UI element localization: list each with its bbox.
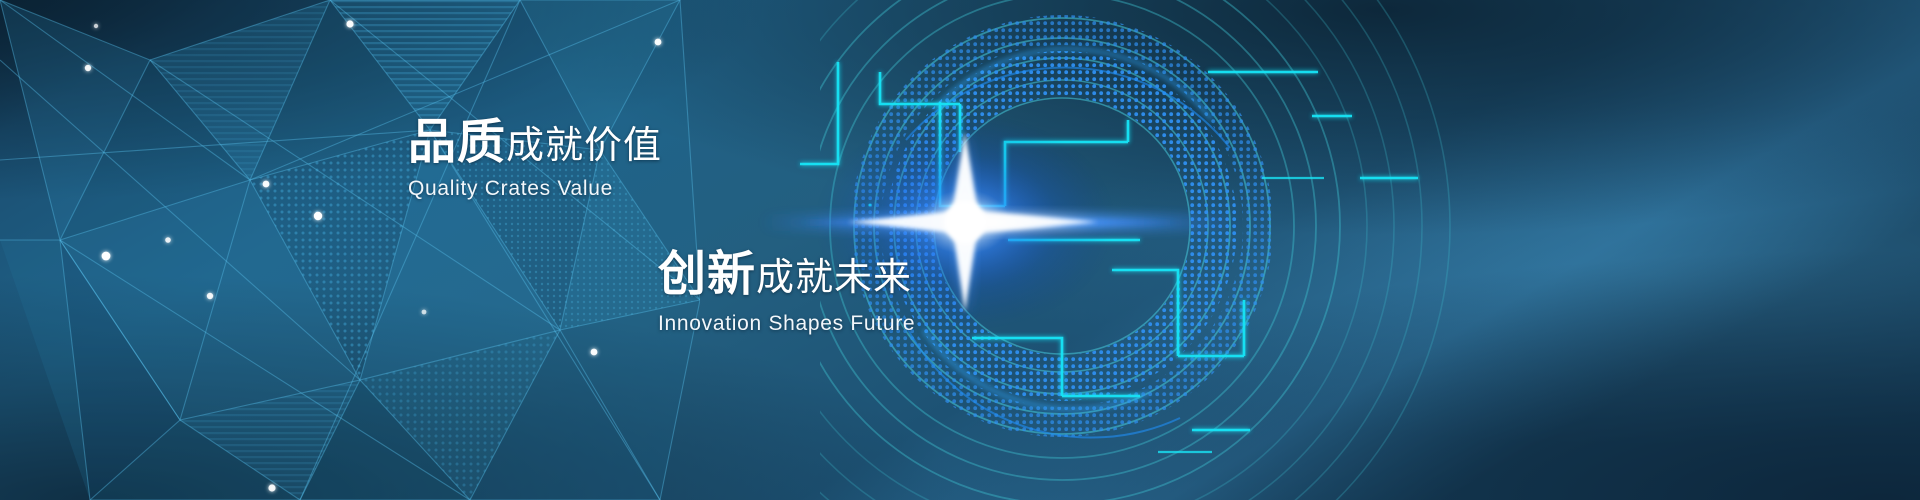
headline-quality-cn-strong: 品质 xyxy=(408,114,506,170)
light-burst-star xyxy=(0,0,1920,500)
headline-quality-en: Quality Crates Value xyxy=(408,177,662,201)
headline-innovation-cn-rest: 成就未来 xyxy=(756,255,912,299)
headline-innovation: 创新成就未来 Innovation Shapes Future xyxy=(658,250,915,336)
headline-quality: 品质成就价值 Quality Crates Value xyxy=(408,118,662,201)
headline-quality-cn: 品质成就价值 xyxy=(408,118,662,166)
hero-banner: 品质成就价值 Quality Crates Value 创新成就未来 Innov… xyxy=(0,0,1920,500)
headline-quality-cn-rest: 成就价值 xyxy=(506,123,662,167)
headline-innovation-en: Innovation Shapes Future xyxy=(658,312,915,336)
headline-innovation-cn-strong: 创新 xyxy=(658,246,756,302)
headline-innovation-cn: 创新成就未来 xyxy=(658,250,915,298)
